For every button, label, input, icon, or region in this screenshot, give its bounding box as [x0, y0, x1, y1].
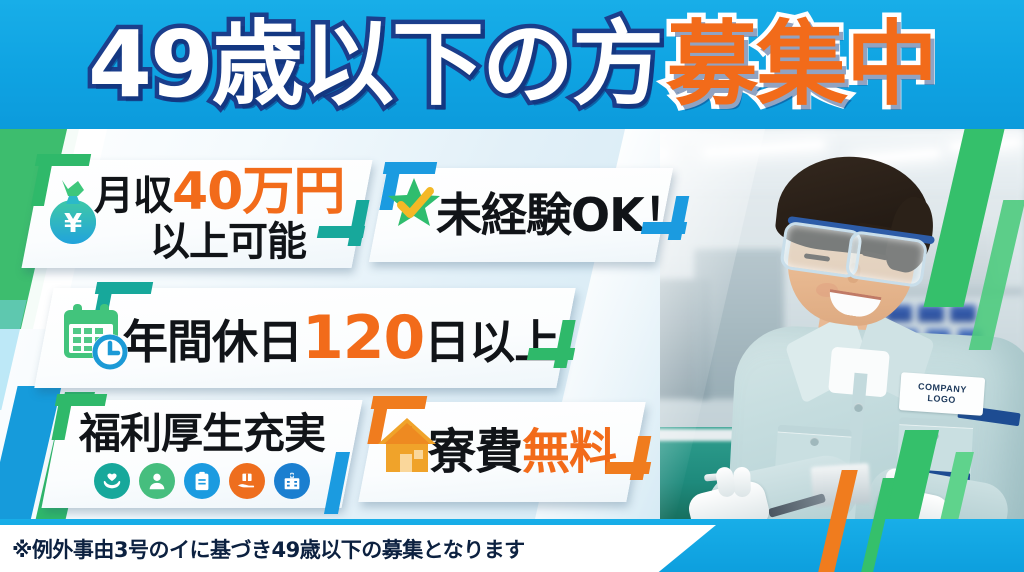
badge-dorm-label: 寮費無料 — [428, 428, 616, 476]
clipboard-icon — [184, 463, 220, 499]
calendar-clock-icon — [60, 300, 134, 372]
badge-salary-line2: 以上可能 — [150, 222, 306, 262]
headline-white: 49歳以下の方 — [88, 19, 662, 111]
glove-left — [686, 478, 773, 519]
person-icon — [139, 463, 175, 499]
house-icon — [376, 414, 438, 476]
header-band: 49歳以下の方 募集中 — [0, 0, 1024, 129]
badge-holidays-label: 年間休日120日以上 — [122, 308, 559, 368]
footer-disclaimer-text: ※例外事由3号のイに基づき49歳以下の募集となります — [12, 534, 525, 564]
hand-box-icon — [229, 463, 265, 499]
uniform-button — [810, 437, 819, 446]
welfare-icon-row — [94, 463, 310, 499]
badge-benefits-label: 福利厚生充実 — [79, 413, 325, 455]
page-title: 49歳以下の方 募集中 — [0, 0, 1024, 129]
badge-salary-line1: 月収40万円 — [94, 166, 344, 218]
badge-benefits: 福利厚生充実 — [42, 400, 363, 508]
hospital-icon — [274, 463, 310, 499]
company-name-line2: LOGO — [927, 393, 956, 406]
money-bag-yen-icon: ¥ — [44, 176, 102, 246]
company-logo-patch: COMPANY LOGO — [899, 372, 985, 416]
uniform-button — [854, 403, 863, 412]
headline-orange: 募集中 — [666, 19, 936, 111]
footer-disclaimer: ※例外事由3号のイに基づき49歳以下の募集となります — [0, 525, 716, 572]
svg-text:¥: ¥ — [64, 209, 82, 239]
star-check-icon — [386, 176, 442, 232]
hands-heart-icon — [94, 463, 130, 499]
recruitment-banner: COMPANY LOGO — [0, 0, 1024, 572]
